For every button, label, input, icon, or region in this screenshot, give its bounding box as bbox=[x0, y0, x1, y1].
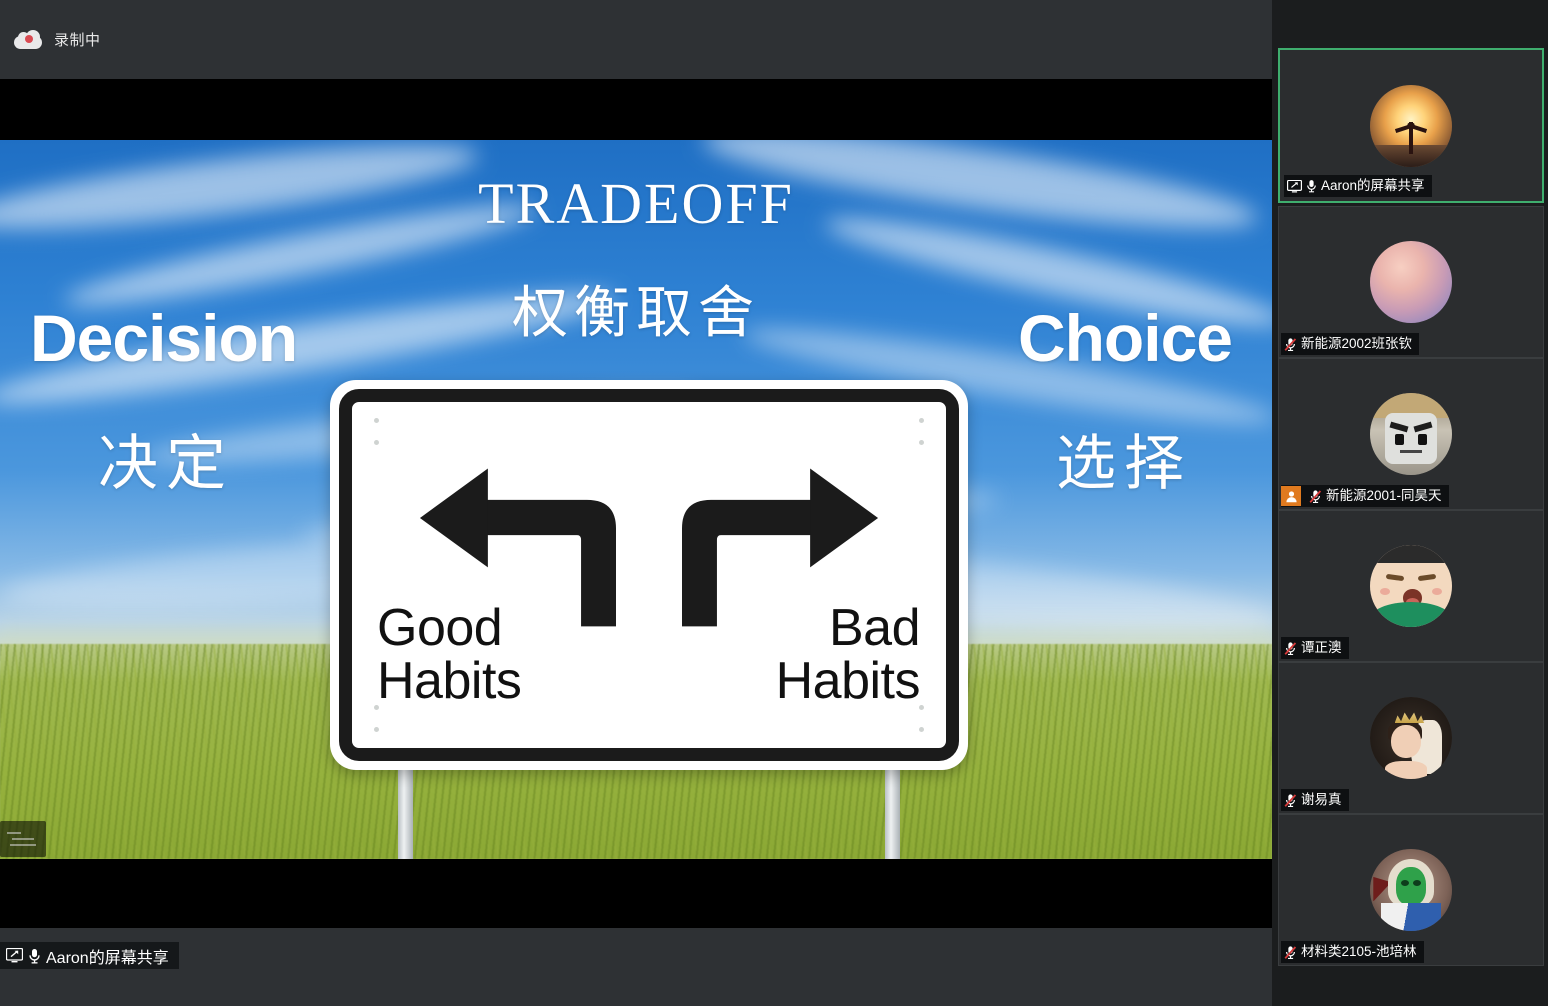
microphone-icon bbox=[1306, 179, 1317, 193]
sign-board: Good Habits Bad Habits bbox=[330, 380, 968, 770]
meeting-window: 录制中 TRADEOFF 权衡取舍 Decision 决定 Choice 选择 bbox=[0, 0, 1548, 1006]
slideshow-menu-icon[interactable] bbox=[0, 821, 46, 857]
participant-name-chip: 谢易真 bbox=[1281, 789, 1349, 811]
avatar bbox=[1370, 241, 1452, 323]
participant-strip[interactable]: Aaron的屏幕共享 新能源2002班张钦 bbox=[1272, 0, 1548, 1006]
road-sign: Good Habits Bad Habits bbox=[330, 380, 968, 859]
microphone-muted-icon bbox=[1284, 793, 1297, 808]
microphone-muted-icon bbox=[1284, 945, 1297, 960]
participant-name-label: 谭正澳 bbox=[1301, 637, 1342, 659]
participant-name-chip: 材料类2105-池培林 bbox=[1281, 941, 1424, 963]
meeting-top-bar: 录制中 bbox=[0, 0, 1272, 79]
sign-label-good-habits: Good Habits bbox=[377, 602, 521, 708]
participant-tile-xieyizhen[interactable]: 谢易真 bbox=[1278, 662, 1544, 814]
sign-post-right bbox=[885, 760, 900, 859]
slide-right-label-english: Choice bbox=[1018, 300, 1232, 376]
cloud-record-icon bbox=[14, 30, 42, 50]
microphone-muted-icon bbox=[1284, 641, 1297, 656]
participant-name-label: 新能源2001-同昊天 bbox=[1326, 485, 1442, 507]
participant-name-label: 新能源2002班张钦 bbox=[1301, 333, 1412, 355]
participant-name-label: 材料类2105-池培林 bbox=[1301, 941, 1417, 963]
participant-tile-chipeilin[interactable]: 材料类2105-池培林 bbox=[1278, 814, 1544, 966]
avatar bbox=[1370, 849, 1452, 931]
participant-name-label: Aaron的屏幕共享 bbox=[1321, 175, 1425, 197]
microphone-muted-icon bbox=[1309, 489, 1322, 504]
screen-share-icon bbox=[1287, 180, 1302, 193]
participant-name-chip: Aaron的屏幕共享 bbox=[1284, 175, 1432, 197]
slide-right-label-chinese: 选择 bbox=[1056, 415, 1192, 502]
microphone-icon bbox=[28, 948, 41, 964]
recording-indicator[interactable]: 录制中 bbox=[14, 29, 101, 50]
slide-left-label-chinese: 决定 bbox=[98, 415, 234, 502]
participant-tile-aaron[interactable]: Aaron的屏幕共享 bbox=[1278, 48, 1544, 203]
participant-strip-scroll[interactable]: Aaron的屏幕共享 新能源2002班张钦 bbox=[1275, 3, 1545, 1003]
participant-name-label: 谢易真 bbox=[1301, 789, 1342, 811]
avatar bbox=[1370, 697, 1452, 779]
avatar bbox=[1370, 545, 1452, 627]
participant-tile-zhangqin[interactable]: 新能源2002班张钦 bbox=[1278, 206, 1544, 358]
sign-bad-line2: Habits bbox=[776, 655, 920, 708]
screen-share-icon bbox=[6, 948, 23, 963]
sign-bad-line1: Bad bbox=[776, 602, 920, 655]
active-share-name-label: Aaron的屏幕共享 bbox=[46, 944, 169, 968]
sign-good-line2: Habits bbox=[377, 655, 521, 708]
participant-name-chip: 新能源2002班张钦 bbox=[1281, 333, 1419, 355]
participant-tile-tanzhengao[interactable]: 谭正澳 bbox=[1278, 510, 1544, 662]
participant-name-chip: 谭正澳 bbox=[1281, 637, 1349, 659]
avatar bbox=[1370, 85, 1452, 167]
active-share-name-chip: Aaron的屏幕共享 bbox=[0, 942, 179, 969]
shared-screen-region: 录制中 TRADEOFF 权衡取舍 Decision 决定 Choice 选择 bbox=[0, 0, 1272, 1006]
microphone-muted-icon bbox=[1284, 337, 1297, 352]
sign-label-bad-habits: Bad Habits bbox=[776, 602, 920, 708]
sign-good-line1: Good bbox=[377, 602, 521, 655]
slide-title-english: TRADEOFF bbox=[0, 170, 1272, 237]
host-person-icon bbox=[1281, 486, 1301, 506]
avatar bbox=[1370, 393, 1452, 475]
meeting-bottom-bar: Aaron的屏幕共享 bbox=[0, 928, 1272, 1006]
recording-status-label: 录制中 bbox=[54, 29, 101, 50]
sign-post-left bbox=[398, 760, 413, 859]
participant-tile-tonghaotian[interactable]: 新能源2001-同昊天 bbox=[1278, 358, 1544, 510]
slide-left-label-english: Decision bbox=[30, 300, 297, 376]
presentation-slide: TRADEOFF 权衡取舍 Decision 决定 Choice 选择 bbox=[0, 140, 1272, 859]
participant-name-chip: 新能源2001-同昊天 bbox=[1281, 485, 1449, 507]
